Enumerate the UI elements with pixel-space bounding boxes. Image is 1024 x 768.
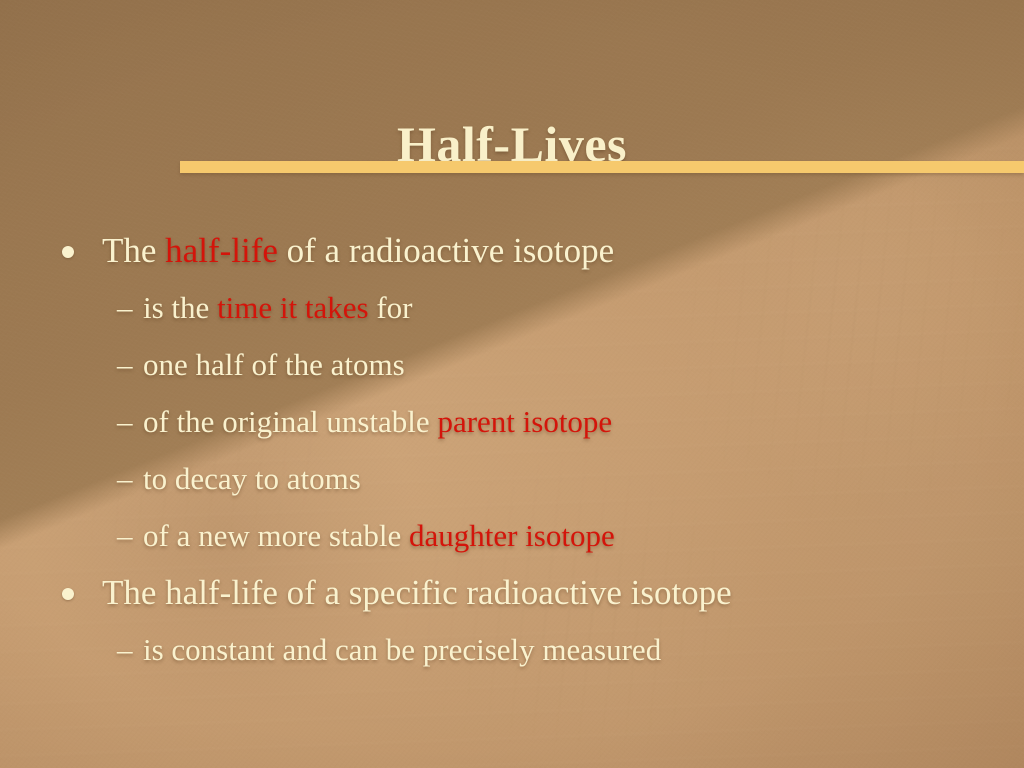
sub-bullet-item: –one half of the atoms — [0, 336, 1024, 393]
sub-bullet-item: –of a new more stable daughter isotope — [0, 507, 1024, 564]
title-underline-bar — [180, 161, 1024, 173]
bullet-text: The — [102, 231, 165, 270]
bullet-text: of the original unstable — [143, 404, 437, 439]
bullet-text: of a radioactive isotope — [278, 231, 614, 270]
sub-bullet-item: –is the time it takes for — [0, 279, 1024, 336]
bullet-text: to decay to atoms — [143, 461, 361, 496]
en-dash-bullet-icon: – — [117, 279, 133, 336]
bullet-dot-icon — [62, 588, 74, 600]
bullet-item: The half-life of a specific radioactive … — [0, 564, 1024, 621]
en-dash-bullet-icon: – — [117, 507, 133, 564]
highlighted-term: time it takes — [217, 290, 369, 325]
sub-bullet-item: –is constant and can be precisely measur… — [0, 621, 1024, 678]
highlighted-term: parent isotope — [437, 404, 612, 439]
en-dash-bullet-icon: – — [117, 336, 133, 393]
sub-bullet-item: –of the original unstable parent isotope — [0, 393, 1024, 450]
bullet-dot-icon — [62, 246, 74, 258]
title-area: Half-Lives — [0, 84, 1024, 204]
bullet-list: The half-life of a radioactive isotope–i… — [0, 222, 1024, 678]
bullet-item: The half-life of a radioactive isotope — [0, 222, 1024, 279]
presentation-slide: Half-Lives The half-life of a radioactiv… — [0, 0, 1024, 768]
highlighted-term: daughter isotope — [409, 518, 615, 553]
bullet-text: one half of the atoms — [143, 347, 405, 382]
bullet-text: for — [369, 290, 413, 325]
bullet-text: is the — [143, 290, 217, 325]
en-dash-bullet-icon: – — [117, 393, 133, 450]
bullet-text: is constant and can be precisely measure… — [143, 632, 661, 667]
sub-bullet-item: –to decay to atoms — [0, 450, 1024, 507]
en-dash-bullet-icon: – — [117, 621, 133, 678]
bullet-text: of a new more stable — [143, 518, 409, 553]
bullet-text: The half-life of a specific radioactive … — [102, 573, 732, 612]
en-dash-bullet-icon: – — [117, 450, 133, 507]
highlighted-term: half-life — [165, 231, 278, 270]
